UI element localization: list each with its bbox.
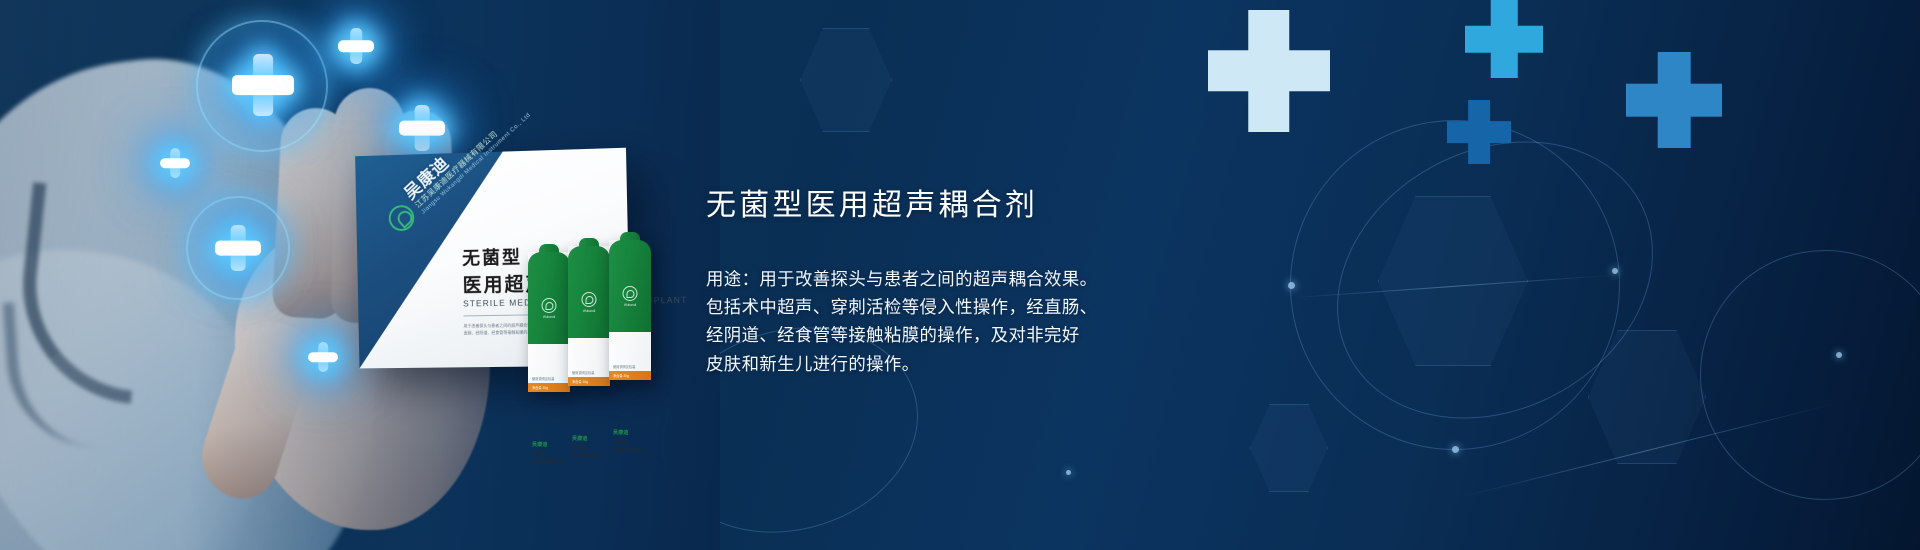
sachet-bottom-bar: 净含量 20g (528, 383, 570, 392)
sachet-top: Wukandi (528, 252, 570, 348)
sachet-swirl-label: Wukandi (583, 309, 595, 313)
sachet: Wukandi 吴康迪 无菌型 医用超声耦合剂 使用说明见包装 净含量 20g (528, 252, 570, 392)
sachet-name-line1: 无菌型 (532, 451, 545, 457)
sachet-net-weight: 净含量 20g (613, 373, 629, 378)
sachet-body: 吴康迪 无菌型 医用超声耦合剂 使用说明见包装 净含量 20g (528, 344, 570, 392)
banner-copy: 无菌型医用超声耦合剂 用途：用于改善探头与患者之间的超声耦合效果。 包括术中超声… (706, 180, 1266, 378)
page-title: 无菌型医用超声耦合剂 (706, 180, 1266, 224)
node-dot (1836, 352, 1842, 358)
cross-icon (160, 148, 190, 178)
sachet-spec: 使用说明见包装 (613, 364, 635, 369)
sachet-name-line2: 医用超声耦合剂 (613, 447, 644, 453)
sachet-name-line2: 医用超声耦合剂 (572, 453, 603, 459)
description-line: 经阴道、经食管等接触粘膜的操作，及对非完好 (706, 321, 1266, 349)
cross-icon (399, 105, 445, 151)
cross-icon (308, 342, 338, 372)
sachet-body: 吴康迪 无菌型 医用超声耦合剂 使用说明见包装 净含量 20g (568, 338, 610, 386)
description-line: 用途：用于改善探头与患者之间的超声耦合效果。 (706, 265, 1266, 293)
cross-icon (1208, 10, 1330, 132)
sachet-brand: 吴康迪 (532, 441, 548, 448)
node-dot (1452, 446, 1459, 453)
sachet-swirl-label: Wukandi (543, 315, 555, 319)
swirl-logo-icon (623, 286, 638, 301)
cross-icon (1626, 52, 1722, 148)
node-dot (1288, 282, 1295, 289)
description-block: 用途：用于改善探头与患者之间的超声耦合效果。 包括术中超声、穿刺活检等侵入性操作… (706, 265, 1266, 378)
box-title-line1: 无菌型 (462, 243, 522, 270)
sachet-net-weight: 净含量 20g (572, 379, 588, 384)
cross-icon (338, 28, 374, 64)
sachet-bottom-bar: 净含量 20g (568, 377, 610, 386)
cross-icon (1465, 0, 1543, 78)
sachet-brand: 吴康迪 (613, 429, 629, 436)
cross-icon (232, 54, 294, 116)
sachet-name-line1: 无菌型 (572, 445, 585, 451)
swirl-logo-icon (582, 292, 597, 307)
cross-icon (215, 225, 261, 271)
sachet: Wukandi 吴康迪 无菌型 医用超声耦合剂 使用说明见包装 净含量 20g (568, 246, 610, 386)
product-banner: 吴康迪 江苏吴康迪医疗器械有限公司 Jiangsu Wukangdi Medic… (0, 0, 1920, 550)
swirl-logo-icon (542, 298, 557, 313)
sachet-spec: 使用说明见包装 (532, 376, 554, 381)
node-dot (1066, 470, 1071, 475)
sachet-name-line2: 医用超声耦合剂 (532, 459, 563, 465)
sachet-body: 吴康迪 无菌型 医用超声耦合剂 使用说明见包装 净含量 20g (609, 332, 651, 380)
sachet-name-line1: 无菌型 (613, 439, 626, 445)
description-line: 皮肤和新生儿进行的操作。 (706, 350, 1266, 378)
sachet-top: Wukandi (568, 246, 610, 342)
sachet-spec: 使用说明见包装 (572, 370, 594, 375)
sachet-brand: 吴康迪 (572, 435, 588, 442)
sachet-bottom-bar: 净含量 20g (609, 371, 651, 380)
sachet-swirl-label: Wukandi (624, 303, 636, 307)
node-dot (1612, 268, 1618, 274)
sachet-net-weight: 净含量 20g (532, 385, 548, 390)
description-line: 包括术中超声、穿刺活检等侵入性操作，经直肠、 (706, 293, 1266, 321)
sachet: Wukandi 吴康迪 无菌型 医用超声耦合剂 使用说明见包装 净含量 20g (609, 240, 651, 380)
cross-icon (1447, 100, 1511, 164)
sachet-top: Wukandi (609, 240, 651, 336)
